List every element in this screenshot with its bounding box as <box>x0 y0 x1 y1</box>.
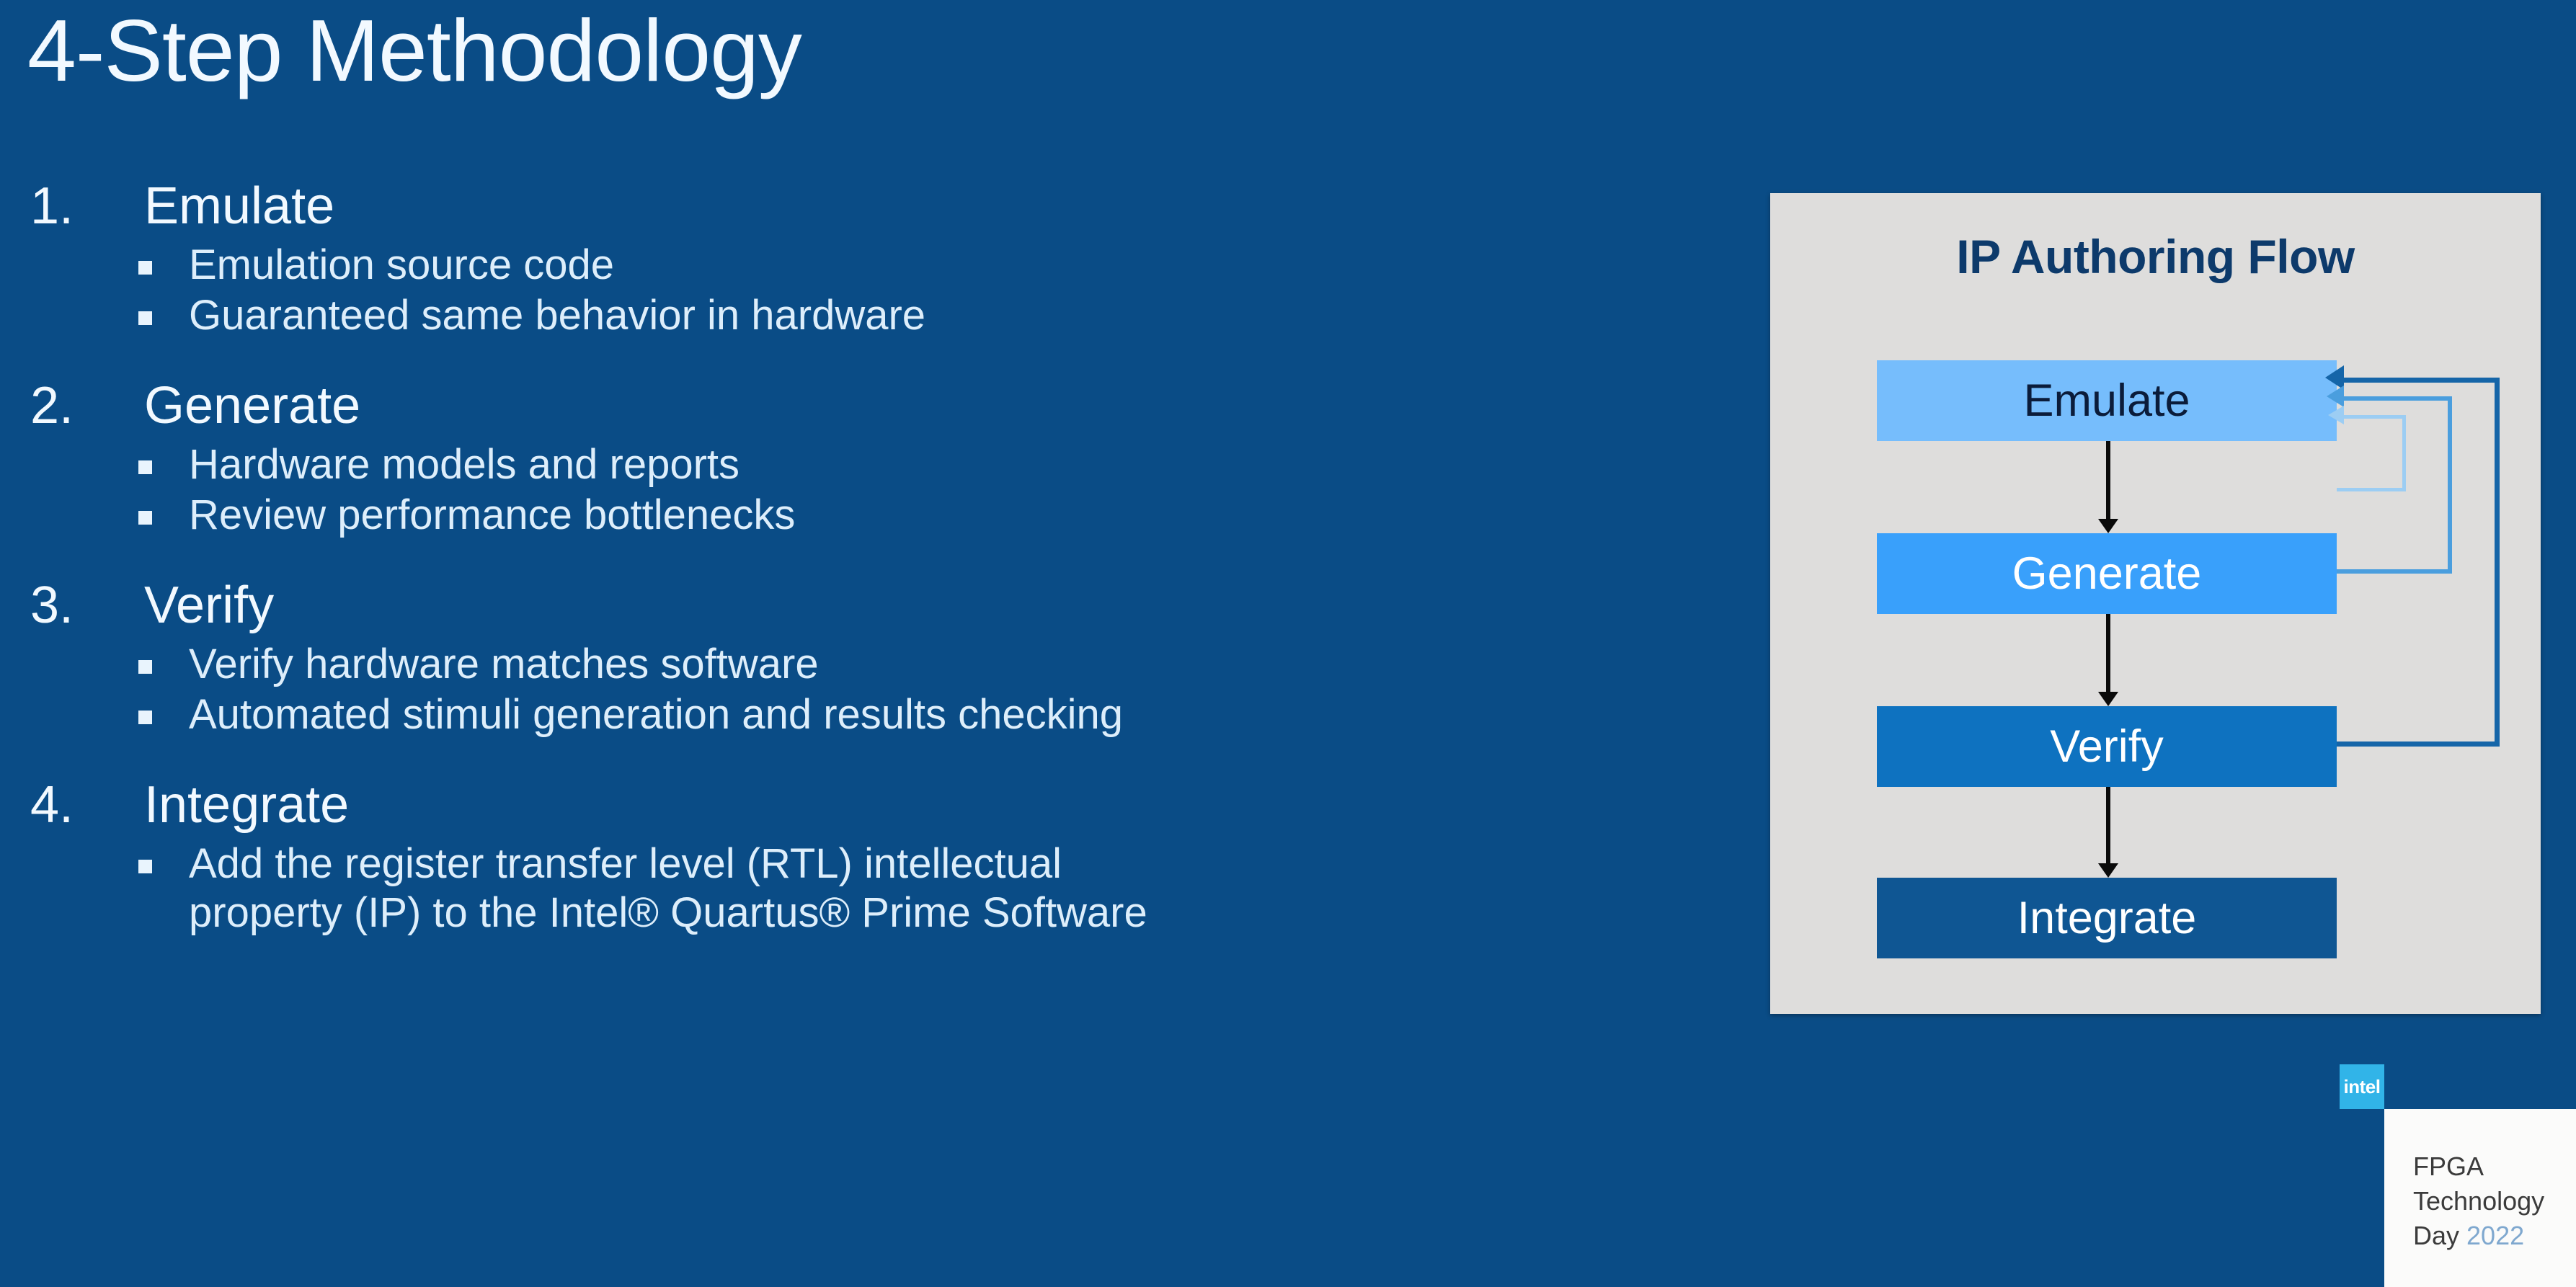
step-heading-4: 4. Integrate <box>0 772 1730 838</box>
feedback-path-emulate-loop <box>2337 415 2406 491</box>
ip-authoring-flow-panel: IP Authoring Flow Emulate Generate Verif… <box>1770 193 2541 1014</box>
square-bullet-icon <box>138 860 152 873</box>
square-bullet-icon <box>138 511 152 525</box>
event-name-line-1: FPGA <box>2413 1149 2576 1184</box>
step-number-3: 3. <box>30 572 74 638</box>
step-name-2: Generate <box>144 373 360 439</box>
event-name-line-2: Technology <box>2413 1184 2576 1219</box>
step-item-3: 3. Verify Verify hardware matches softwa… <box>0 572 1730 740</box>
flow-box-integrate: Integrate <box>1877 878 2337 958</box>
step-number-4: 4. <box>30 772 74 838</box>
square-bullet-icon <box>138 311 152 325</box>
step-3-bullet-1: Verify hardware matches software <box>0 640 1730 689</box>
bullet-text: Hardware models and reports <box>189 440 1730 489</box>
intel-logo: intel <box>2340 1064 2384 1109</box>
step-name-3: Verify <box>144 572 274 638</box>
flow-diagram-title: IP Authoring Flow <box>1770 229 2541 284</box>
flow-box-label: Emulate <box>1877 360 2337 441</box>
flow-box-generate: Generate <box>1877 533 2337 614</box>
step-name-4: Integrate <box>144 772 349 838</box>
feedback-arrowhead-generate-icon <box>2327 386 2344 407</box>
bullet-text: Guaranteed same behavior in hardware <box>189 291 1730 340</box>
square-bullet-icon <box>138 261 152 275</box>
step-heading-1: 1. Emulate <box>0 173 1730 239</box>
flow-box-label: Integrate <box>1877 878 2337 958</box>
event-branding-card: FPGA Technology Day 2022 <box>2384 1109 2576 1287</box>
step-2-bullet-2: Review performance bottlenecks <box>0 491 1730 540</box>
event-year: 2022 <box>2466 1221 2524 1250</box>
step-item-4: 4. Integrate Add the register transfer l… <box>0 772 1730 938</box>
slide-canvas: 4-Step Methodology 1. Emulate Emulation … <box>0 0 2576 1287</box>
footer-logo-lockup: intel FPGA Technology Day 2022 <box>2340 1064 2576 1287</box>
step-2-bullet-1: Hardware models and reports <box>0 440 1730 489</box>
page-title: 4-Step Methodology <box>27 0 801 106</box>
step-heading-3: 3. Verify <box>0 572 1730 638</box>
arrow-emulate-to-generate-icon <box>2106 441 2110 522</box>
step-item-2: 2. Generate Hardware models and reports … <box>0 373 1730 540</box>
step-3-bullet-2: Automated stimuli generation and results… <box>0 690 1730 739</box>
bullet-text: Add the register transfer level (RTL) in… <box>189 840 1730 938</box>
step-4-bullet-1: Add the register transfer level (RTL) in… <box>0 840 1730 938</box>
flow-box-label: Verify <box>1877 706 2337 787</box>
step-number-1: 1. <box>30 173 74 239</box>
flow-box-verify: Verify <box>1877 706 2337 787</box>
arrow-verify-to-integrate-icon <box>2106 787 2110 866</box>
step-number-2: 2. <box>30 373 74 439</box>
bullet-text: Verify hardware matches software <box>189 640 1730 689</box>
bullet-text: Automated stimuli generation and results… <box>189 690 1730 739</box>
square-bullet-icon <box>138 460 152 474</box>
bullet-text: Emulation source code <box>189 241 1730 290</box>
square-bullet-icon <box>138 660 152 674</box>
methodology-steps-list: 1. Emulate Emulation source code Guarant… <box>0 173 1730 970</box>
flow-box-emulate: Emulate <box>1877 360 2337 441</box>
square-bullet-icon <box>138 711 152 724</box>
event-name-line-3: Day 2022 <box>2413 1219 2576 1253</box>
event-day-label: Day <box>2413 1221 2466 1250</box>
step-1-bullet-2: Guaranteed same behavior in hardware <box>0 291 1730 340</box>
step-item-1: 1. Emulate Emulation source code Guarant… <box>0 173 1730 341</box>
arrow-generate-to-verify-icon <box>2106 614 2110 695</box>
step-heading-2: 2. Generate <box>0 373 1730 439</box>
step-1-bullet-1: Emulation source code <box>0 241 1730 290</box>
bullet-text: Review performance bottlenecks <box>189 491 1730 540</box>
flow-box-label: Generate <box>1877 533 2337 614</box>
feedback-arrowhead-inner-icon <box>2328 406 2344 424</box>
step-name-1: Emulate <box>144 173 334 239</box>
